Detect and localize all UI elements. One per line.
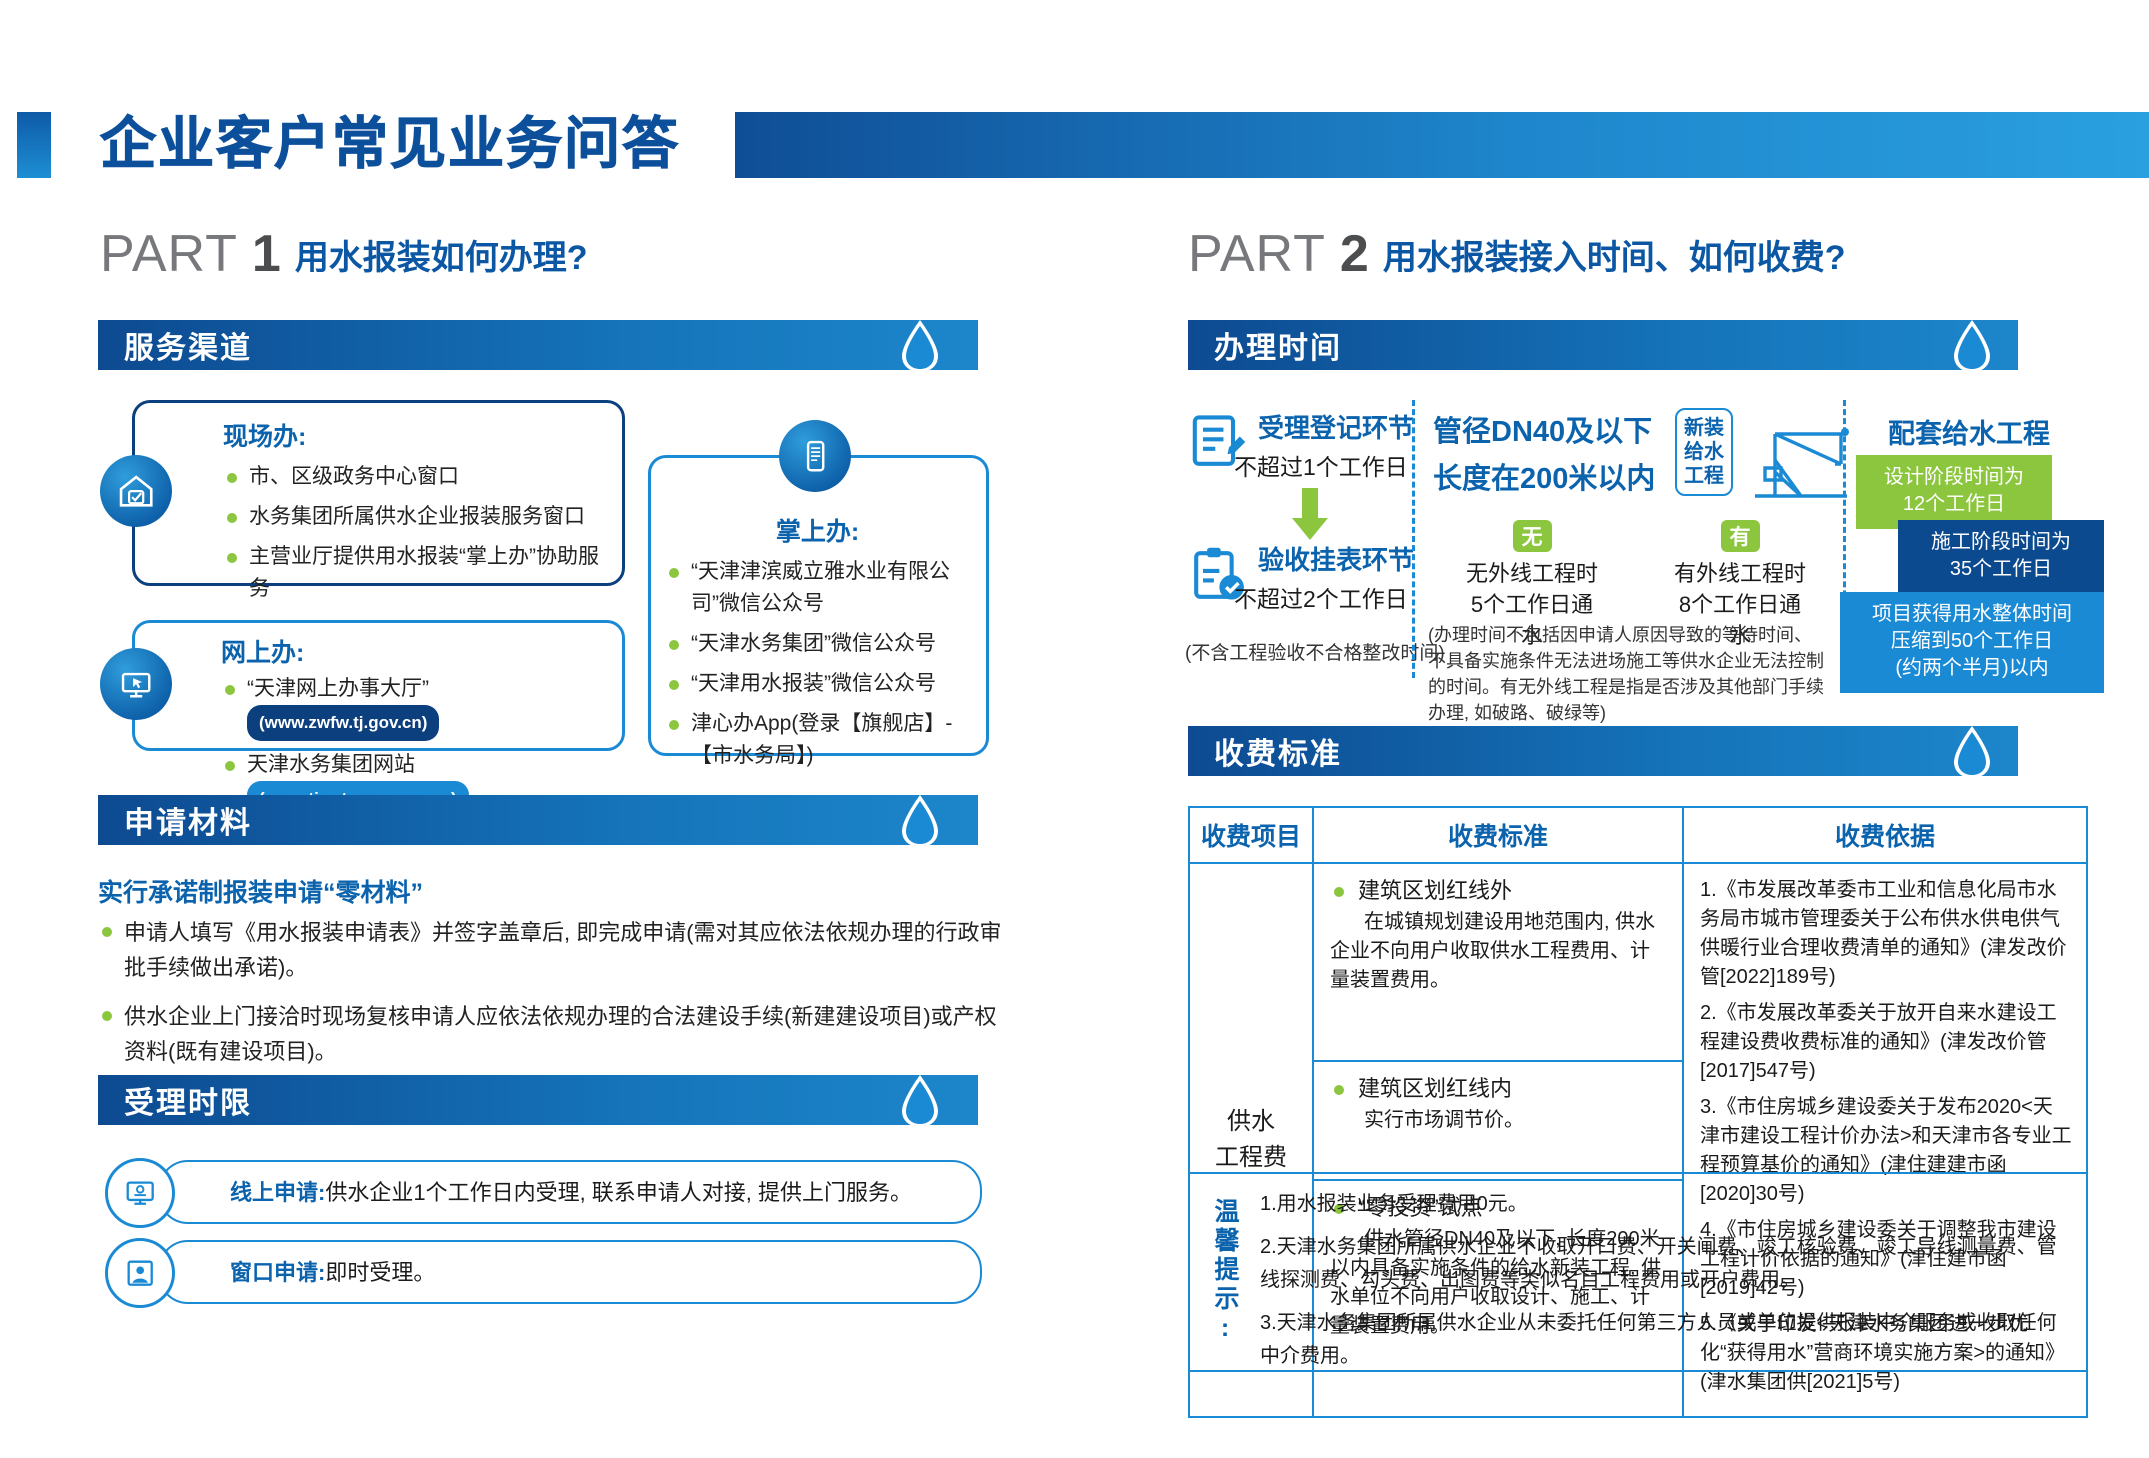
timelimit-text-online: 供水企业1个工作日内受理, 联系申请人对接, 提供上门服务。 — [325, 1180, 912, 1205]
water-drop-icon — [898, 318, 942, 374]
fee-standard-cell-1: 建筑区划红线外 在城镇规划建设用地范围内, 供水企业不向用户收取供水工程费用、计… — [1313, 863, 1683, 1061]
timelimit-text-window: 即时受理。 — [325, 1260, 435, 1285]
step2-title: 验收挂表环节 — [1258, 540, 1414, 577]
col-fee-item: 收费项目 — [1189, 807, 1313, 863]
part2-label: PART — [1188, 228, 1326, 280]
materials-list: 申请人填写《用水报装申请表》并签字盖章后, 即完成申请(需对其应依法依规办理的行… — [98, 915, 1006, 1077]
part1-number: 1 — [252, 228, 281, 280]
branch-none-line1: 无外线工程时 — [1462, 558, 1602, 589]
down-arrow-icon — [1288, 488, 1332, 542]
part1-question: 用水报装如何办理? — [295, 236, 588, 280]
tip-item: 1.用水报装业务受理费用0元。 — [1260, 1188, 2066, 1221]
mobile-channel-box: 掌上办: “天津津滨威立雅水业有限公司”微信公众号 “天津水务集团”微信公众号 … — [648, 455, 989, 756]
onsite-channel-box: 现场办: 市、区级政务中心窗口 水务集团所属供水企业报装服务窗口 主营业厅提供用… — [132, 400, 625, 586]
branch-chip-has: 有 — [1721, 520, 1760, 552]
part2-header: PART 2 用水报装接入时间、如何收费? — [1188, 228, 1846, 280]
standard-head: 建筑区划红线内 — [1330, 1074, 1668, 1104]
list-item: 水务集团所属供水企业报装服务窗口 — [223, 501, 604, 533]
timelimit-row-online: 线上申请:供水企业1个工作日内受理, 联系申请人对接, 提供上门服务。 — [158, 1160, 982, 1224]
standard-body: 实行市场调节价。 — [1330, 1106, 1668, 1135]
materials-subtitle: 实行承诺制报装申请“零材料” — [98, 873, 423, 909]
online-site-name: “天津网上办事大厅” — [247, 677, 429, 700]
flag-total-time: 项目获得用水整体时间 压缩到50个工作日 (约两个半月)以内 — [1840, 592, 2104, 693]
steps-note: (不含工程验收不合格整改时间) — [1185, 638, 1445, 665]
col-fee-standard: 收费标准 — [1313, 807, 1683, 863]
crane-icon — [1745, 410, 1857, 506]
water-drop-icon — [898, 793, 942, 849]
timelimit-label-online: 线上申请: — [230, 1180, 325, 1205]
supporting-project-title: 配套给水工程 — [1888, 412, 2050, 451]
onsite-list: 市、区级政务中心窗口 水务集团所属供水企业报装服务窗口 主营业厅提供用水报装“掌… — [223, 461, 604, 605]
list-item: 主营业厅提供用水报装“掌上办”协助服务 — [223, 541, 604, 605]
table-header-row: 收费项目 收费标准 收费依据 — [1189, 807, 2087, 863]
monitor-cursor-icon — [100, 648, 172, 720]
tip-item: 3.天津水务集团所属供水企业从未委托任何第三方人员或单位提供报装中介服务或收取任… — [1260, 1307, 2066, 1373]
list-item: “天津网上办事大厅” (www.zwfw.tj.gov.cn) — [221, 673, 608, 741]
mobile-heading: 掌上办: — [665, 512, 970, 548]
part2-question: 用水报装接入时间、如何收费? — [1383, 236, 1846, 280]
tips-label: 温馨提示: — [1207, 1198, 1243, 1346]
flag-design-stage: 设计阶段时间为 12个工作日 — [1856, 455, 2052, 529]
tip-item: 2.天津水务集团所属供水企业不收取开口费、开关闸费、竣工核验费、竣工导线测量费、… — [1260, 1231, 2066, 1297]
tips-list: 1.用水报装业务受理费用0元。 2.天津水务集团所属供水企业不收取开口费、开关闸… — [1260, 1174, 2086, 1370]
list-item: “天津水务集团”微信公众号 — [665, 628, 970, 660]
table-row: 供水 工程费 建筑区划红线外 在城镇规划建设用地范围内, 供水企业不向用户收取供… — [1189, 863, 2087, 1061]
col-fee-basis: 收费依据 — [1683, 807, 2087, 863]
online-heading: 网上办: — [221, 633, 608, 669]
home-check-icon — [100, 455, 172, 527]
section-title-processing-time: 办理时间 — [1214, 323, 1342, 367]
banner-bar — [735, 112, 2149, 178]
section-bar-processing-time-limit: 受理时限 — [98, 1075, 978, 1125]
section-title-processing-time-limit: 受理时限 — [124, 1078, 252, 1122]
step2-detail: 不超过2个工作日 — [1234, 580, 1408, 614]
list-item: 供水企业上门接洽时现场复核申请人应依法依规办理的合法建设手续(新建建设项目)或产… — [98, 999, 1006, 1069]
section-title-service-channels: 服务渠道 — [124, 323, 252, 367]
service-person-icon — [105, 1238, 175, 1308]
step1-detail: 不超过1个工作日 — [1234, 448, 1408, 482]
timelimit-row-window: 窗口申请:即时受理。 — [158, 1240, 982, 1304]
list-item: 市、区级政务中心窗口 — [223, 461, 604, 493]
section-bar-application-materials: 申请材料 — [98, 795, 978, 845]
divider — [1412, 400, 1415, 678]
online-channel-box: 网上办: “天津网上办事大厅” (www.zwfw.tj.gov.cn) 天津水… — [132, 620, 625, 751]
section-bar-processing-time: 办理时间 — [1188, 320, 2018, 370]
water-drop-icon — [1950, 724, 1994, 780]
monitor-icon — [105, 1158, 175, 1228]
section-bar-fee-standards: 收费标准 — [1188, 726, 2018, 776]
tips-box: 温馨提示: 1.用水报装业务受理费用0元。 2.天津水务集团所属供水企业不收取开… — [1188, 1172, 2088, 1372]
timelimit-label-window: 窗口申请: — [230, 1260, 325, 1285]
list-item: 津心办App(登录【旗舰店】-【市水务局】) — [665, 708, 970, 772]
online-site-url[interactable]: (www.zwfw.tj.gov.cn) — [247, 705, 439, 741]
pipe-note: (办理时间不包括因申请人原因导致的等待时间、不具备实施条件无法进场施工等供水企业… — [1428, 622, 1828, 726]
law-item: 1.《市发展改革委市工业和信息化局市水务局市城市管理委关于公布供水供电供气供暖行… — [1700, 876, 2072, 992]
banner-left-tab — [17, 112, 51, 178]
smartphone-icon — [779, 420, 851, 492]
part1-header: PART 1 用水报装如何办理? — [100, 228, 588, 280]
part2-number: 2 — [1340, 228, 1369, 280]
pipe-condition-line1: 管径DN40及以下 — [1433, 408, 1652, 450]
onsite-heading: 现场办: — [223, 417, 604, 453]
branch-chip-none: 无 — [1513, 520, 1552, 552]
standard-body: 在城镇规划建设用地范围内, 供水企业不向用户收取供水工程费用、计量装置费用。 — [1330, 908, 1668, 995]
mobile-list: “天津津滨威立雅水业有限公司”微信公众号 “天津水务集团”微信公众号 “天津用水… — [665, 556, 970, 772]
tips-label-wrap: 温馨提示: — [1190, 1174, 1260, 1370]
standard-head: 建筑区划红线外 — [1330, 876, 1668, 906]
section-title-fee-standards: 收费标准 — [1214, 729, 1342, 773]
law-item: 2.《市发展改革委关于放开自来水建设工程建设费收费标准的通知》(津发改价管[20… — [1700, 999, 2072, 1086]
branch-has-line1: 有外线工程时 — [1670, 558, 1810, 589]
list-item: “天津津滨威立雅水业有限公司”微信公众号 — [665, 556, 970, 620]
water-drop-icon — [898, 1073, 942, 1129]
section-title-application-materials: 申请材料 — [124, 798, 252, 842]
water-drop-icon — [1950, 318, 1994, 374]
flag-construction-stage: 施工阶段时间为 35个工作日 — [1898, 520, 2104, 594]
list-item: 申请人填写《用水报装申请表》并签字盖章后, 即完成申请(需对其应依法依规办理的行… — [98, 915, 1006, 985]
pipe-condition-line2: 长度在200米以内 — [1433, 455, 1655, 497]
fee-standard-cell-2: 建筑区划红线内 实行市场调节价。 — [1313, 1061, 1683, 1180]
step1-title: 受理登记环节 — [1258, 408, 1414, 445]
new-water-project-tag: 新装给水工程 — [1675, 408, 1733, 496]
online-site-name: 天津水务集团网站 — [247, 753, 415, 776]
part1-label: PART — [100, 228, 238, 280]
section-bar-service-channels: 服务渠道 — [98, 320, 978, 370]
page-title: 企业客户常见业务问答 — [100, 108, 680, 180]
page-banner: 企业客户常见业务问答 — [0, 112, 2149, 178]
list-item: “天津用水报装”微信公众号 — [665, 668, 970, 700]
